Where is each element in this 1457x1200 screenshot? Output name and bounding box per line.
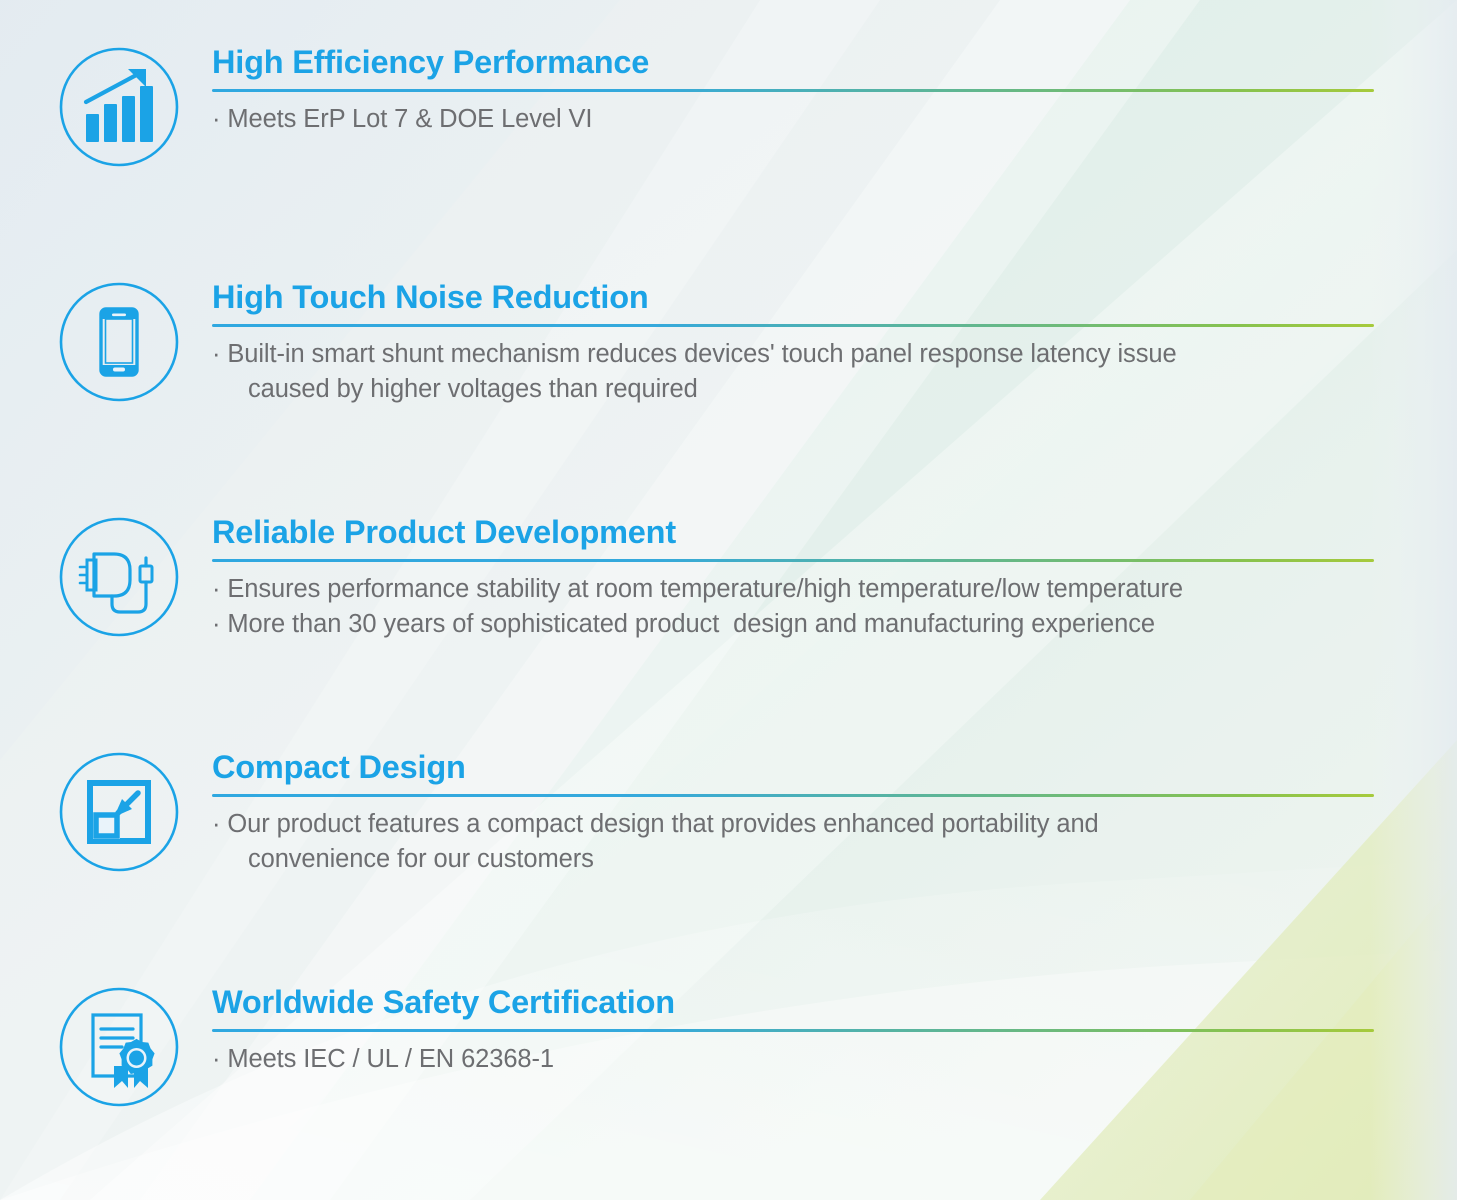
- feature-title: Worldwide Safety Certification: [212, 984, 1374, 1020]
- compact-resize-icon: [56, 749, 182, 875]
- feature-text-block: High Touch Noise Reduction · Built-in sm…: [212, 279, 1457, 407]
- feature-divider: [212, 324, 1374, 327]
- bar-chart-growth-icon: [56, 44, 182, 170]
- power-adapter-icon: [56, 514, 182, 640]
- feature-item-reliable-product-development: Reliable Product Development · Ensures p…: [0, 514, 1457, 642]
- feature-divider: [212, 89, 1374, 92]
- certificate-seal-icon: [56, 984, 182, 1110]
- feature-text-block: High Efficiency Performance · Meets ErP …: [212, 44, 1457, 137]
- bullet-item: · More than 30 years of sophisticated pr…: [212, 607, 1374, 642]
- feature-item-high-touch-noise-reduction: High Touch Noise Reduction · Built-in sm…: [0, 279, 1457, 407]
- bullet-item: · Built-in smart shunt mechanism reduces…: [212, 337, 1374, 406]
- feature-text-block: Worldwide Safety Certification · Meets I…: [212, 984, 1457, 1077]
- bullet-item: · Meets ErP Lot 7 & DOE Level VI: [212, 102, 1374, 137]
- smartphone-icon: [56, 279, 182, 405]
- feature-bullets: · Meets IEC / UL / EN 62368-1: [212, 1042, 1374, 1077]
- feature-divider: [212, 1029, 1374, 1032]
- feature-text-block: Compact Design · Our product features a …: [212, 749, 1457, 877]
- feature-item-high-efficiency-performance: High Efficiency Performance · Meets ErP …: [0, 44, 1457, 170]
- bullet-item: · Meets IEC / UL / EN 62368-1: [212, 1042, 1374, 1077]
- feature-bullets: · Built-in smart shunt mechanism reduces…: [212, 337, 1374, 406]
- feature-bullets: · Our product features a compact design …: [212, 807, 1374, 876]
- feature-text-block: Reliable Product Development · Ensures p…: [212, 514, 1457, 642]
- feature-title: High Touch Noise Reduction: [212, 279, 1374, 315]
- feature-item-compact-design: Compact Design · Our product features a …: [0, 749, 1457, 877]
- feature-bullets: · Meets ErP Lot 7 & DOE Level VI: [212, 102, 1374, 137]
- feature-bullets: · Ensures performance stability at room …: [212, 572, 1374, 641]
- feature-title: Reliable Product Development: [212, 514, 1374, 550]
- bullet-item: · Ensures performance stability at room …: [212, 572, 1374, 607]
- feature-list: High Efficiency Performance · Meets ErP …: [0, 0, 1457, 1200]
- feature-divider: [212, 794, 1374, 797]
- bullet-item: · Our product features a compact design …: [212, 807, 1374, 876]
- feature-item-worldwide-safety-certification: Worldwide Safety Certification · Meets I…: [0, 984, 1457, 1110]
- feature-divider: [212, 559, 1374, 562]
- feature-title: High Efficiency Performance: [212, 44, 1374, 80]
- feature-title: Compact Design: [212, 749, 1374, 785]
